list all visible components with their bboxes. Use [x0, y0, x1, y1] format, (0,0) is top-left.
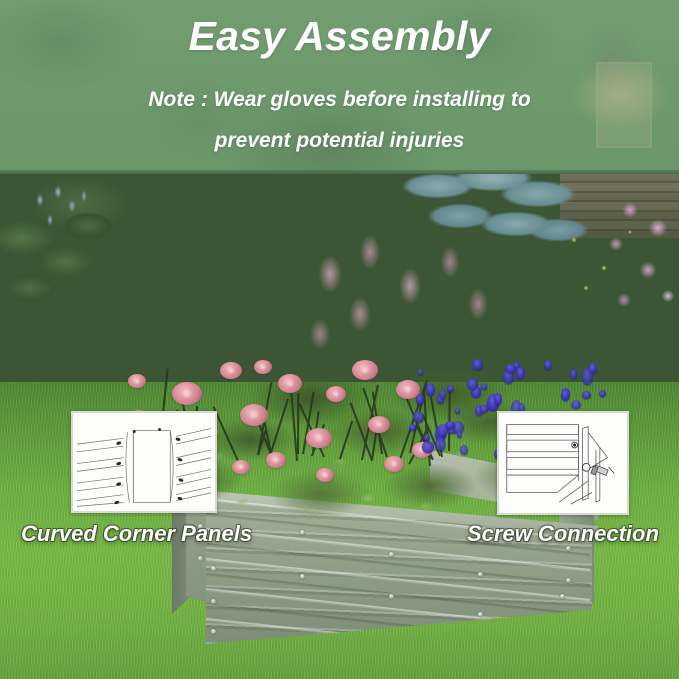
salvia-spike: [571, 400, 581, 409]
salvia-spike: [494, 393, 502, 405]
rose-bloom: [316, 468, 334, 482]
header-banner: Easy Assembly Note : Wear gloves before …: [0, 0, 679, 174]
salvia-spike: [505, 364, 516, 374]
screw-glyph: [591, 465, 616, 475]
salvia-spike: [447, 385, 454, 392]
salvia-spike: [418, 369, 423, 375]
note-line-2: prevent potential injuries: [0, 129, 679, 153]
rose-bloom: [278, 374, 302, 393]
salvia-spike: [599, 390, 606, 397]
bed-screw: [478, 612, 483, 617]
rose-bloom: [240, 404, 268, 426]
rose-bloom: [306, 428, 332, 448]
salvia-spike: [481, 383, 488, 390]
salvia-spike: [582, 391, 590, 399]
salvia-spike: [570, 369, 577, 379]
salvia-spike: [413, 411, 424, 424]
bed-screw: [478, 572, 483, 577]
product-infographic: Easy Assembly Note : Wear gloves before …: [0, 0, 679, 679]
salvia-spike: [480, 405, 488, 413]
screw-connection-diagram: [499, 413, 627, 514]
salvia-spike: [544, 360, 552, 370]
salvia-spike: [416, 394, 424, 405]
salvia-spike: [439, 389, 446, 399]
rose-bloom: [368, 416, 390, 433]
bed-screw: [198, 556, 203, 561]
bed-screw: [560, 594, 565, 599]
rose-bloom: [266, 452, 286, 468]
curved-corner-panel-diagram: [73, 413, 215, 512]
product-photo: Curved Corner Panels Screw Connection: [0, 174, 679, 679]
salvia-spike: [435, 438, 446, 452]
bed-screw: [211, 629, 216, 634]
salvia-spike: [424, 434, 430, 441]
salvia-spike: [582, 368, 593, 385]
bed-screw: [389, 552, 394, 557]
rose-bloom: [220, 362, 242, 379]
bed-screw: [300, 530, 305, 535]
callout-screw-connection: [497, 411, 629, 515]
salvia-spike: [561, 388, 571, 401]
note-line-1: Note : Wear gloves before installing to: [0, 88, 679, 112]
rose-bloom: [172, 382, 202, 405]
salvia-spike: [409, 424, 416, 431]
page-title: Easy Assembly: [0, 14, 679, 60]
callout-curved-corner-panels: [71, 411, 217, 513]
callout-label-screw-connection: Screw Connection: [467, 521, 659, 547]
salvia-spike: [426, 383, 434, 395]
salvia-spike: [516, 367, 525, 380]
rose-bloom: [326, 386, 346, 402]
bed-screw: [389, 594, 394, 599]
salvia-spike: [472, 359, 483, 370]
bed-screw: [211, 599, 216, 604]
salvia-spike: [437, 424, 449, 437]
bed-screw: [300, 574, 305, 579]
rose-bloom: [128, 374, 146, 388]
salvia-spike: [460, 445, 468, 455]
callout-label-curved-corner-panels: Curved Corner Panels: [21, 521, 252, 547]
bed-screw: [211, 566, 216, 571]
rose-bloom: [352, 360, 378, 380]
salvia-spike: [457, 431, 462, 437]
bed-screw: [566, 578, 571, 583]
salvia-spike: [455, 408, 460, 414]
rose-bloom: [232, 460, 250, 474]
rose-bloom: [254, 360, 272, 374]
salvia-spike: [422, 441, 434, 453]
